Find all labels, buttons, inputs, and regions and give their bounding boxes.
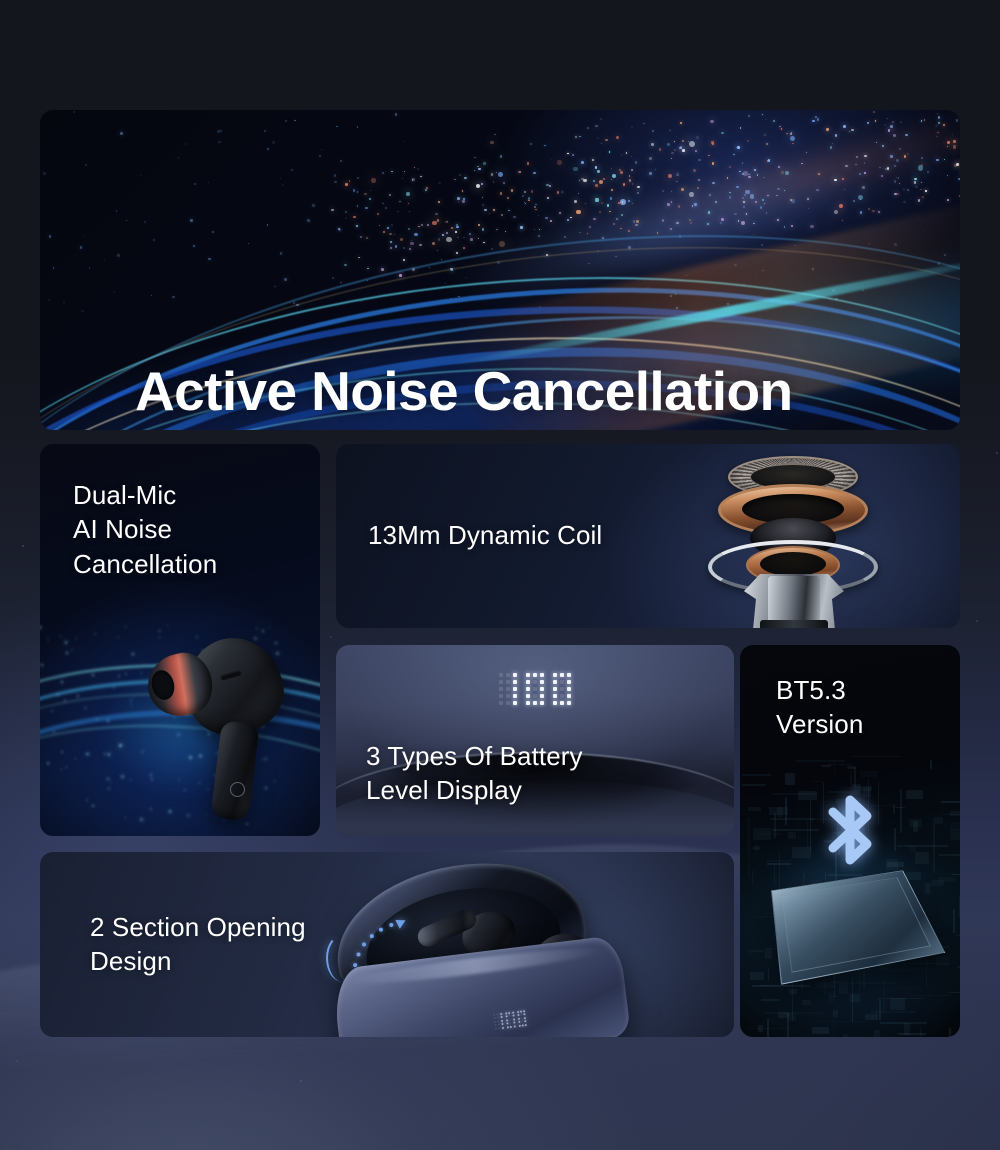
card-battery-label: 3 Types Of Battery Level Display [366,739,583,808]
card-bluetooth-label: BT5.3 Version [776,673,863,742]
bluetooth-icon [811,786,889,896]
led-battery-readout [499,673,571,705]
page-title: Active Noise Cancellation [135,355,792,428]
driver-copper-lower-inner [760,552,826,576]
card-two-section-label: 2 Section Opening Design [90,910,306,979]
led-digit [553,673,571,705]
opening-motion-arc [326,934,360,982]
card-battery-level-display: 3 Types Of Battery Level Display [336,645,734,837]
driver-base-contact [760,620,828,628]
product-feature-page: Active Noise Cancellation Dual-Mic AI No… [0,0,1000,1150]
card-bluetooth-version: BT5.3 Version [740,645,960,1037]
card-dynamic-coil: 13Mm Dynamic Coil [336,444,960,628]
card-dual-mic-label: Dual-Mic AI Noise Cancellation [73,478,217,581]
anc-hero-banner: Active Noise Cancellation [40,110,960,430]
card-two-section-opening: 2 Section Opening Design [40,852,734,1037]
led-digit [517,1010,528,1027]
card-dynamic-coil-label: 13Mm Dynamic Coil [368,518,602,552]
led-digit [499,673,517,705]
charging-case-illustration [312,860,642,1037]
led-digit [526,673,544,705]
led-digit [505,1012,516,1029]
card-dual-mic-anc: Dual-Mic AI Noise Cancellation [40,444,320,836]
dynamic-driver-illustration [702,448,882,628]
led-digit [493,1013,504,1030]
earbud-illustration [148,630,298,820]
earbud-stem [210,720,260,822]
